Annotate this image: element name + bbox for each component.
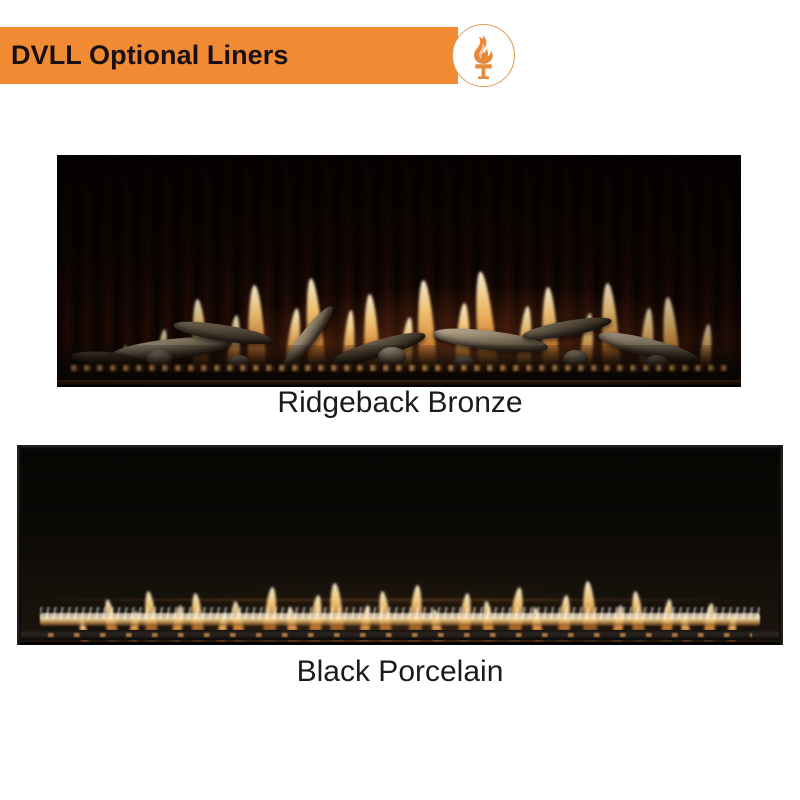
fireplace-image-black-porcelain [17,445,783,645]
page-title: DVLL Optional Liners [0,40,289,71]
photo-ridgeback-bronze [57,155,741,387]
liner-seam [25,599,776,601]
photo-vignette [57,155,741,387]
caption-ridgeback-bronze: Ridgeback Bronze [0,386,800,420]
header-banner: DVLL Optional Liners [0,27,458,84]
fireplace-image-ridgeback-bronze [57,155,741,387]
brand-logo [452,24,515,87]
frame-right [779,445,783,645]
torch-flame-logo-icon [452,24,515,87]
glass-media-sparkle [40,607,760,619]
caption-black-porcelain: Black Porcelain [0,655,800,689]
burner-ports [48,633,753,637]
frame-left [17,445,21,645]
firebox-floor [17,642,783,645]
frame-top [17,445,783,449]
photo-black-porcelain [17,445,783,645]
